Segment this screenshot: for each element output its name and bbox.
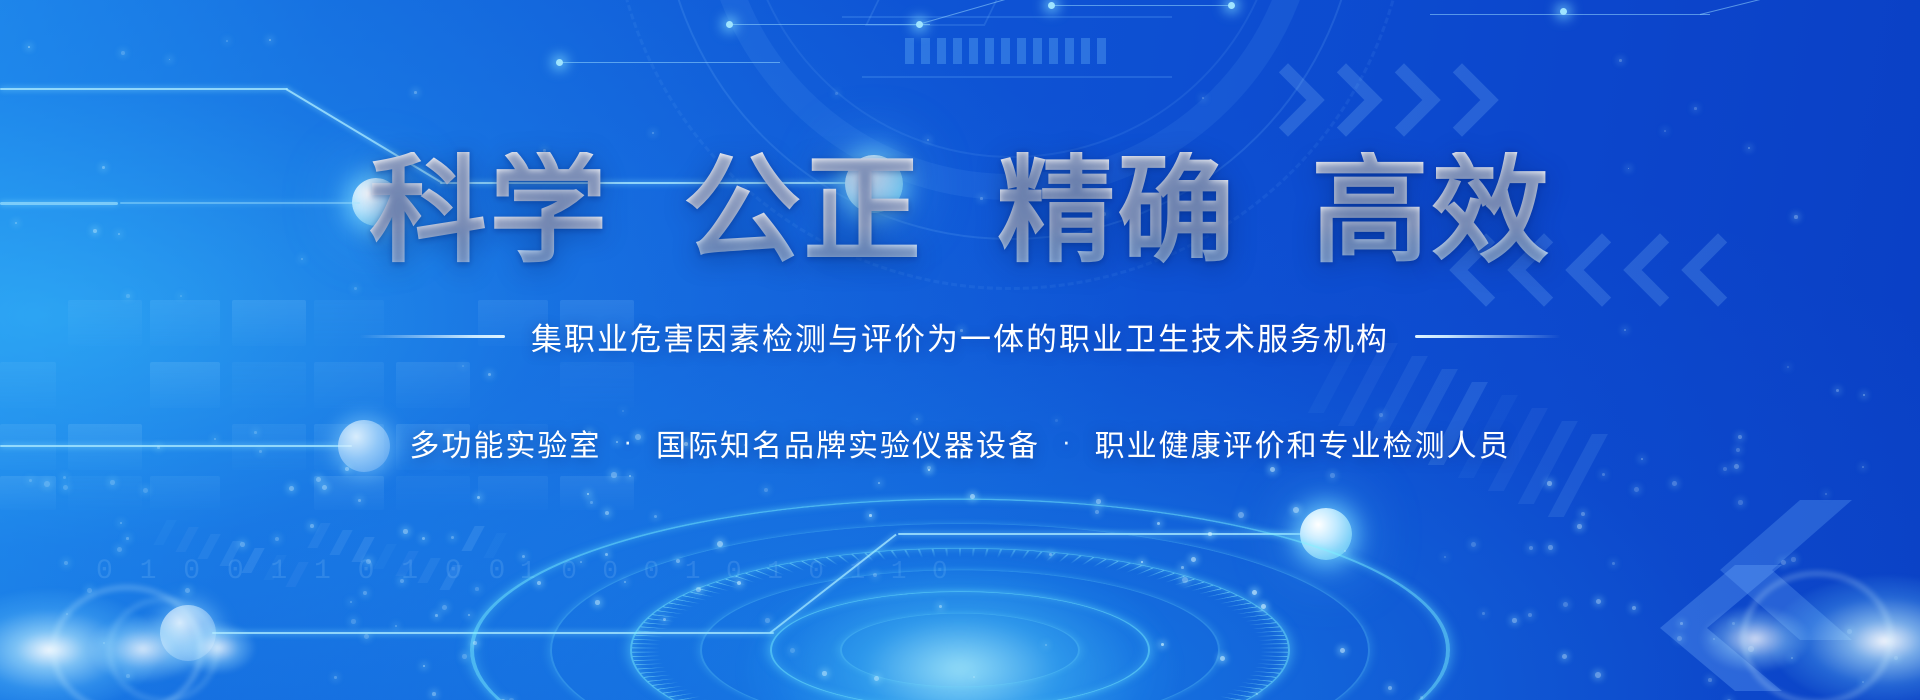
tagline-item-1: 多功能实验室 bbox=[409, 421, 601, 465]
headline: 科学 公正 精确 高效 bbox=[363, 152, 1557, 270]
headline-word-2: 公正 bbox=[677, 152, 929, 270]
subtitle-text: 集职业危害因素检测与评价为一体的职业卫生技术服务机构 bbox=[531, 314, 1389, 359]
banner-content: 科学 公正 精确 高效 集职业危害因素检测与评价为一体的职业卫生技术服务机构 多… bbox=[0, 0, 1920, 700]
tagline-separator-2: · bbox=[1062, 428, 1073, 454]
hero-banner: 0 1 0 0 1 1 0 1 0 0 1 0 0 0 1 0 1 0 1 1 … bbox=[0, 0, 1920, 700]
subtitle-rule-right bbox=[1415, 335, 1561, 338]
tagline-item-3: 职业健康评价和专业检测人员 bbox=[1095, 421, 1511, 465]
tagline-separator-1: · bbox=[623, 428, 634, 454]
headline-word-3: 精确 bbox=[991, 152, 1243, 270]
subtitle-rule-left bbox=[359, 335, 505, 338]
headline-word-1: 科学 bbox=[363, 152, 615, 270]
tagline-item-2: 国际知名品牌实验仪器设备 bbox=[656, 421, 1040, 465]
subtitle-row: 集职业危害因素检测与评价为一体的职业卫生技术服务机构 bbox=[359, 314, 1561, 359]
headline-word-4: 高效 bbox=[1305, 152, 1557, 270]
tagline-row: 多功能实验室 · 国际知名品牌实验仪器设备 · 职业健康评价和专业检测人员 bbox=[409, 421, 1510, 465]
